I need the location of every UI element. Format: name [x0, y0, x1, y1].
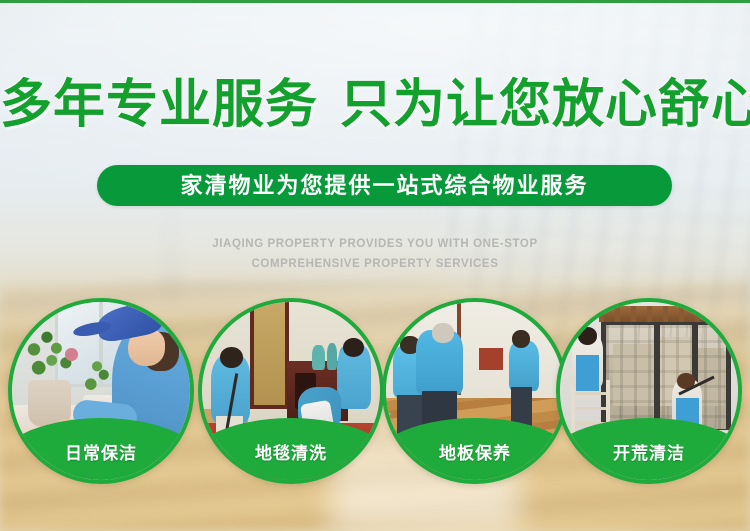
english-subtitle-line-2: COMPREHENSIVE PROPERTY SERVICES — [0, 254, 750, 274]
service-circle-post-renovation-cleaning[interactable]: 开荒清洁 — [556, 298, 742, 484]
service-label-daily-cleaning: 日常保洁 — [12, 445, 190, 462]
headline-part-1: 多年专业服务 — [0, 76, 318, 134]
subtitle-pill: 家清物业为您提供一站式综合物业服务 — [97, 165, 672, 206]
english-subtitle-line-1: JIAQING PROPERTY PROVIDES YOU WITH ONE-S… — [0, 234, 750, 254]
page-title: 多年专业服务只为让您放心舒心 — [0, 79, 750, 131]
promo-banner: 多年专业服务只为让您放心舒心 家清物业为您提供一站式综合物业服务 JIAQING… — [0, 0, 750, 531]
service-label-floor-maintenance: 地板保养 — [386, 445, 564, 462]
headline-part-2: 只为让您放心舒心 — [340, 76, 750, 134]
english-subtitle: JIAQING PROPERTY PROVIDES YOU WITH ONE-S… — [0, 234, 750, 274]
service-label-post-renovation-cleaning: 开荒清洁 — [560, 445, 738, 462]
top-accent-rule — [0, 0, 750, 3]
pill-label: 家清物业为您提供一站式综合物业服务 — [180, 175, 588, 197]
service-circle-carpet-washing[interactable]: 地毯清洗 — [198, 298, 384, 484]
service-label-carpet-washing: 地毯清洗 — [202, 445, 380, 462]
service-circle-row: 日常保洁 — [0, 298, 750, 488]
service-circle-daily-cleaning[interactable]: 日常保洁 — [8, 298, 194, 484]
service-circle-floor-maintenance[interactable]: 地板保养 — [382, 298, 568, 484]
